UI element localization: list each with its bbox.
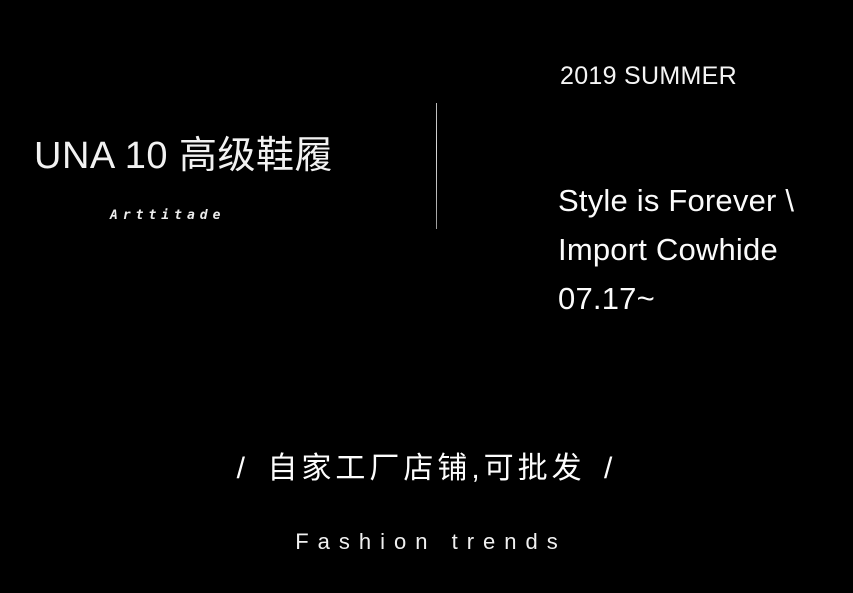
promo-banner: UNA 10 高级鞋履 Arttitade 2019 SUMMER Style … [0,0,853,593]
promo-slash-right: / [598,452,622,485]
headline-line-1: Style is Forever \ [558,176,794,225]
brand-title: UNA 10 高级鞋履 [34,134,333,178]
promo-text: 自家工厂店铺,可批发 [267,452,585,485]
vertical-divider [436,103,437,229]
headline-block: Style is Forever \ Import Cowhide 07.17~ [558,176,794,323]
headline-line-3: 07.17~ [558,274,794,323]
season-label: 2019 SUMMER [560,60,737,92]
headline-line-2: Import Cowhide [558,225,794,274]
brand-tagline: Arttitade [110,208,225,223]
promo-slash-left: / [231,452,255,485]
promo-line: / 自家工厂店铺,可批发 / [0,448,853,490]
footer-tagline: Fashion trends [0,527,853,557]
